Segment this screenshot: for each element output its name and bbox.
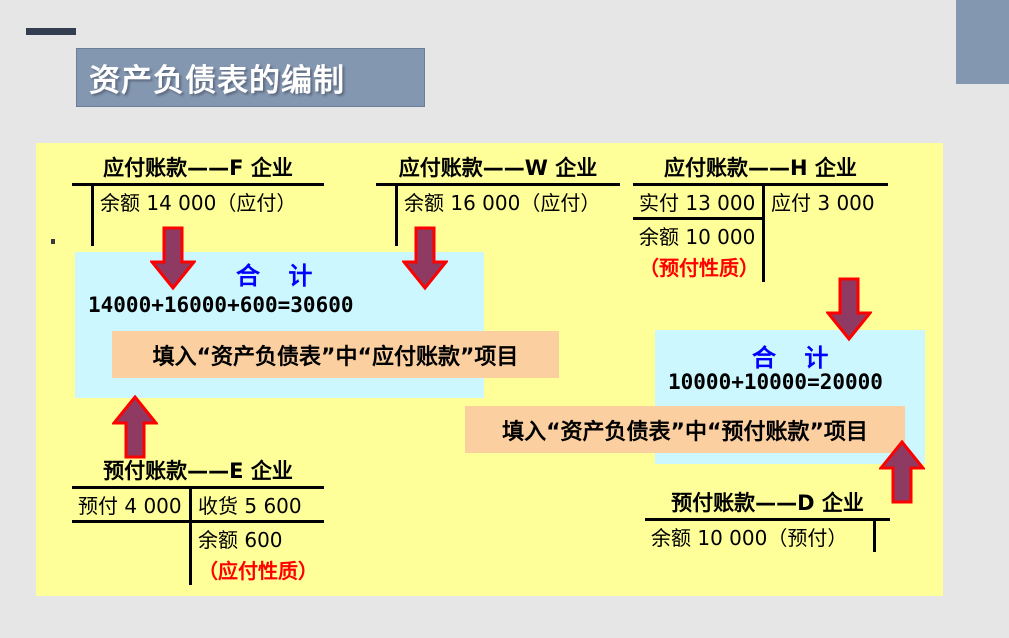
arrow-h-down-icon — [826, 277, 872, 342]
t-account-h-debit-row2: 余额 10 000 — [633, 220, 762, 251]
t-account-d-title: 预付账款——D 企业 — [645, 487, 890, 518]
t-account-h-debit-row1: 实付 13 000 — [633, 186, 762, 220]
stray-dot-mark — [51, 239, 55, 244]
t-account-f-credit-col: 余额 14 000（应付） — [94, 186, 324, 246]
summary-right-formula: 10000+10000=20000 — [668, 370, 883, 394]
callout-box-prepayments: 填入“资产负债表”中“预付账款”项目 — [465, 406, 905, 453]
t-account-e-debit-col: 预付 4 000 — [72, 489, 192, 585]
t-account-e: 预付账款——E 企业 预付 4 000 收货 5 600 余额 600 （应付性… — [72, 455, 324, 585]
t-account-f-title: 应付账款——F 企业 — [72, 152, 324, 183]
t-account-e-debit-row1: 预付 4 000 — [72, 489, 189, 523]
title-accent-bar — [26, 28, 76, 35]
arrow-f-down-icon — [150, 226, 196, 291]
callout-payables-text: 填入“资产负债表”中“应付账款”项目 — [153, 339, 519, 371]
t-account-w-debit-col — [376, 186, 398, 246]
summary-left-heading: 合 计 — [236, 256, 322, 291]
t-account-e-credit-row1: 收货 5 600 — [192, 489, 324, 523]
arrow-w-down-icon — [402, 226, 448, 291]
t-account-w-credit-row: 余额 16 000（应付） — [398, 186, 620, 217]
callout-prepayments-text: 填入“资产负债表”中“预付账款”项目 — [502, 414, 868, 446]
callout-box-payables: 填入“资产负债表”中“应付账款”项目 — [112, 331, 559, 378]
corner-accent-block — [956, 0, 1009, 84]
t-account-d-credit-col — [876, 521, 890, 552]
t-account-h-credit-col: 应付 3 000 — [765, 186, 888, 282]
summary-left-formula: 14000+16000+600=30600 — [88, 293, 354, 317]
slide-title-box: 资产负债表的编制 — [76, 48, 425, 107]
t-account-e-credit-note: （应付性质） — [192, 554, 324, 585]
t-account-d-debit-col: 余额 10 000（预付） — [645, 521, 876, 552]
t-account-h: 应付账款——H 企业 实付 13 000 余额 10 000 （预付性质） 应付… — [633, 152, 888, 282]
slide-canvas: 资产负债表的编制 应付账款——F 企业 余额 14 000（应付） 应付账款——… — [0, 0, 1009, 638]
t-account-w-title: 应付账款——W 企业 — [376, 152, 620, 183]
t-account-h-debit-col: 实付 13 000 余额 10 000 （预付性质） — [633, 186, 765, 282]
t-account-f-debit-col — [72, 186, 94, 246]
summary-right-heading: 合 计 — [752, 338, 838, 373]
t-account-e-credit-row2: 余额 600 — [192, 523, 324, 554]
arrow-d-up-icon — [879, 440, 925, 505]
t-account-d-debit-row: 余额 10 000（预付） — [645, 521, 873, 552]
arrow-e-up-icon — [112, 395, 158, 460]
t-account-h-debit-note: （预付性质） — [633, 251, 762, 282]
t-account-f-credit-row: 余额 14 000（应付） — [94, 186, 324, 217]
t-account-e-credit-col: 收货 5 600 余额 600 （应付性质） — [192, 489, 324, 585]
t-account-e-title: 预付账款——E 企业 — [72, 455, 324, 486]
t-account-h-title: 应付账款——H 企业 — [633, 152, 888, 183]
t-account-d: 预付账款——D 企业 余额 10 000（预付） — [645, 487, 890, 552]
page-title: 资产负债表的编制 — [77, 55, 345, 100]
t-account-f: 应付账款——F 企业 余额 14 000（应付） — [72, 152, 324, 246]
t-account-h-credit-row1: 应付 3 000 — [765, 186, 888, 217]
